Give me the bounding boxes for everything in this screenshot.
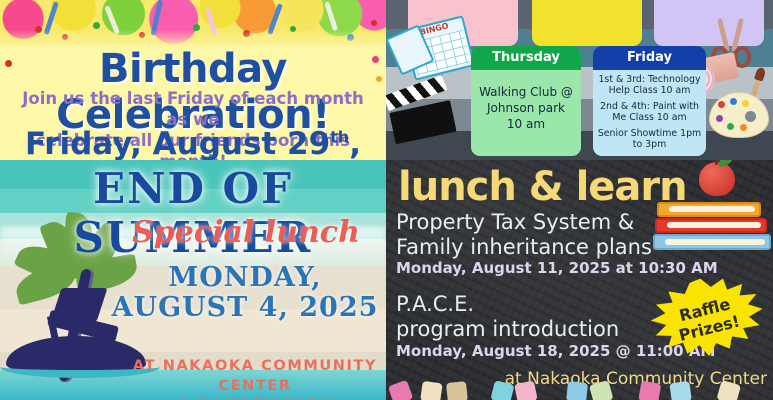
chalk-icon	[420, 381, 443, 400]
chalk-icon	[716, 380, 741, 400]
calendar-thursday-entries: Walking Club @ Johnson park 10 am	[471, 70, 581, 133]
calendar-day-label-thursday: Thursday	[471, 46, 581, 70]
confetti-dot-icon	[371, 20, 377, 26]
flyer-collage: Birthday Celebration! Join us the last F…	[0, 0, 773, 400]
panel-lunch-and-learn: lunch & learn Property Tax System & Fami…	[386, 160, 773, 400]
calendar-day-label-friday: Friday	[593, 46, 706, 70]
lunch-learn-title: lunch & learn	[398, 164, 687, 210]
summer-location-line1: AT NAKAOKA COMMUNITY	[133, 358, 377, 374]
thursday-entry-line1: Walking Club @	[479, 85, 573, 99]
friday-block-3: Senior Showtime 1pm to 3pm	[596, 128, 703, 151]
panel-activity-calendar: following Lunch 1 pm - 2:30 pm BINGO	[386, 0, 773, 160]
chalk-icon	[566, 381, 588, 400]
chalk-icon	[490, 380, 514, 400]
session1-line1: Property Tax System &	[396, 210, 634, 234]
thursday-entry-line3: 10 am	[507, 117, 545, 131]
birthday-date: Friday, August 29th, 2025	[0, 126, 386, 160]
chalk-icon	[446, 381, 468, 400]
calendar-card-friday[interactable]: Friday 1st & 3rd: Technology Help Class …	[593, 46, 706, 156]
paint-palette-icon	[709, 92, 769, 138]
confetti-dot-icon	[93, 22, 100, 29]
birthday-date-prefix: Friday, August 29	[25, 126, 330, 160]
lunch-learn-session1-date: Monday, August 11, 2025 at 10:30 AM	[396, 259, 718, 277]
summer-script-subtitle: Special lunch	[116, 215, 376, 250]
streamer-icon	[324, 1, 338, 31]
friday-block-2: 2nd & 4th: Paint with Me Class 10 am	[596, 101, 703, 124]
birthday-subtitle-line1: Join us the last Friday of each month as…	[22, 89, 363, 129]
summer-location: AT NAKAOKA COMMUNITY CENTER & ROWLEY PAR…	[124, 357, 386, 400]
birthday-date-ordinal: th	[330, 128, 349, 147]
chalk-icon	[514, 380, 538, 400]
friday-block-1: 1st & 3rd: Technology Help Class 10 am	[596, 74, 703, 97]
chalk-icon	[388, 380, 414, 400]
chalk-icon	[638, 381, 661, 400]
session2-line1: P.A.C.E.	[396, 292, 474, 316]
summer-date: MONDAY, AUGUST 4, 2025	[110, 263, 380, 322]
session1-line2: Family inheritance plans	[396, 235, 652, 259]
panel-end-of-summer: END OF SUMMER Special lunch MONDAY, AUGU…	[0, 160, 386, 400]
summer-location-line2: CENTER	[218, 378, 291, 394]
session2-line2: program introduction	[396, 317, 619, 341]
lunch-learn-session2-heading: P.A.C.E. program introduction	[396, 292, 646, 342]
calendar-card-clipped-yellow: following Lunch	[532, 0, 642, 46]
calendar-card-thursday[interactable]: Thursday Walking Club @ Johnson park 10 …	[471, 46, 581, 156]
lunch-learn-session1-heading: Property Tax System & Family inheritance…	[396, 210, 656, 260]
summer-date-line1: MONDAY,	[168, 262, 321, 293]
chalk-sticks-row	[386, 380, 773, 400]
thursday-entry-line2: Johnson park	[487, 101, 565, 115]
panel-birthday-celebration: Birthday Celebration! Join us the last F…	[0, 0, 386, 160]
calendar-friday-entries: 1st & 3rd: Technology Help Class 10 am 2…	[593, 70, 706, 151]
clapperboard-icon	[386, 82, 460, 145]
chalk-icon	[589, 380, 614, 400]
chalk-icon	[669, 381, 692, 400]
summer-date-line2: AUGUST 4, 2025	[112, 292, 379, 323]
